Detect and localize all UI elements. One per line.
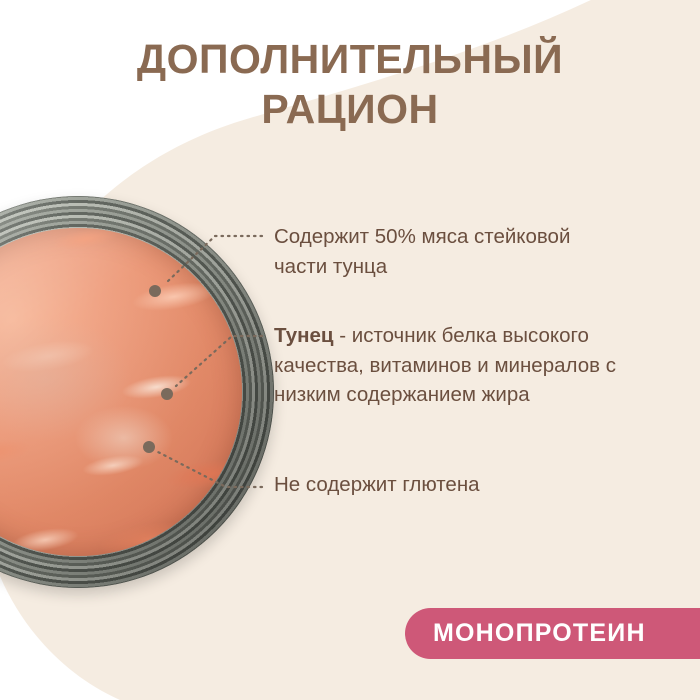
feature-item-1-text: Содержит 50% мяса стейковой части тунца	[274, 225, 570, 278]
can-body	[0, 196, 274, 588]
feature-item-2: Тунец - источник белка высокого качества…	[274, 321, 626, 410]
feature-item-3: Не содержит глютена	[274, 470, 626, 500]
feature-item-3-text: Не содержит глютена	[274, 473, 480, 496]
product-infographic-poster: ДОПОЛНИТЕЛЬНЫЙ РАЦИОН Содержит 50% мяса …	[0, 0, 700, 700]
feature-item-1: Содержит 50% мяса стейковой части тунца	[274, 222, 626, 281]
page-title: ДОПОЛНИТЕЛЬНЫЙ РАЦИОН	[70, 34, 630, 134]
can-contents	[0, 228, 242, 556]
monoprotein-badge-label: МОНОПРОТЕИН	[433, 619, 646, 648]
can-gloss-overlay	[0, 228, 242, 556]
tuna-can-image	[0, 196, 274, 588]
monoprotein-badge: МОНОПРОТЕИН	[405, 608, 700, 659]
feature-item-2-lead: Тунец	[274, 324, 334, 347]
